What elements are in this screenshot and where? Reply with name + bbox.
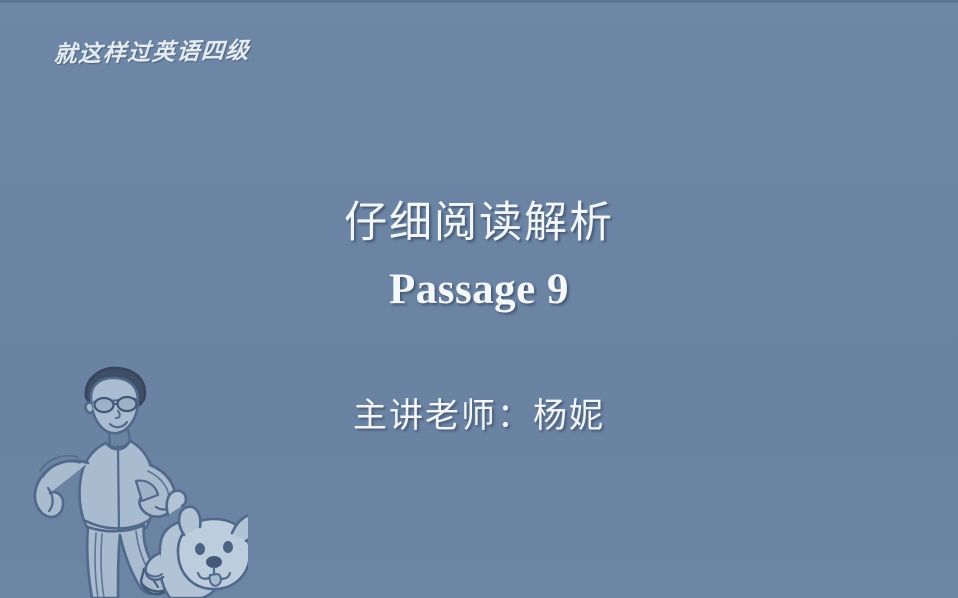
- lecture-title-slide: 就这样过英语四级 仔细阅读解析 Passage 9 主讲老师：杨妮: [0, 0, 958, 598]
- frame-top-edge: [0, 0, 958, 3]
- page-title: 仔细阅读解析: [0, 196, 958, 250]
- title-block: 仔细阅读解析 Passage 9: [0, 196, 958, 316]
- passage-subtitle: Passage 9: [0, 264, 958, 316]
- brand-logo-text: 就这样过英语四级: [53, 38, 251, 68]
- presenter-label: 主讲老师：杨妮: [0, 394, 958, 438]
